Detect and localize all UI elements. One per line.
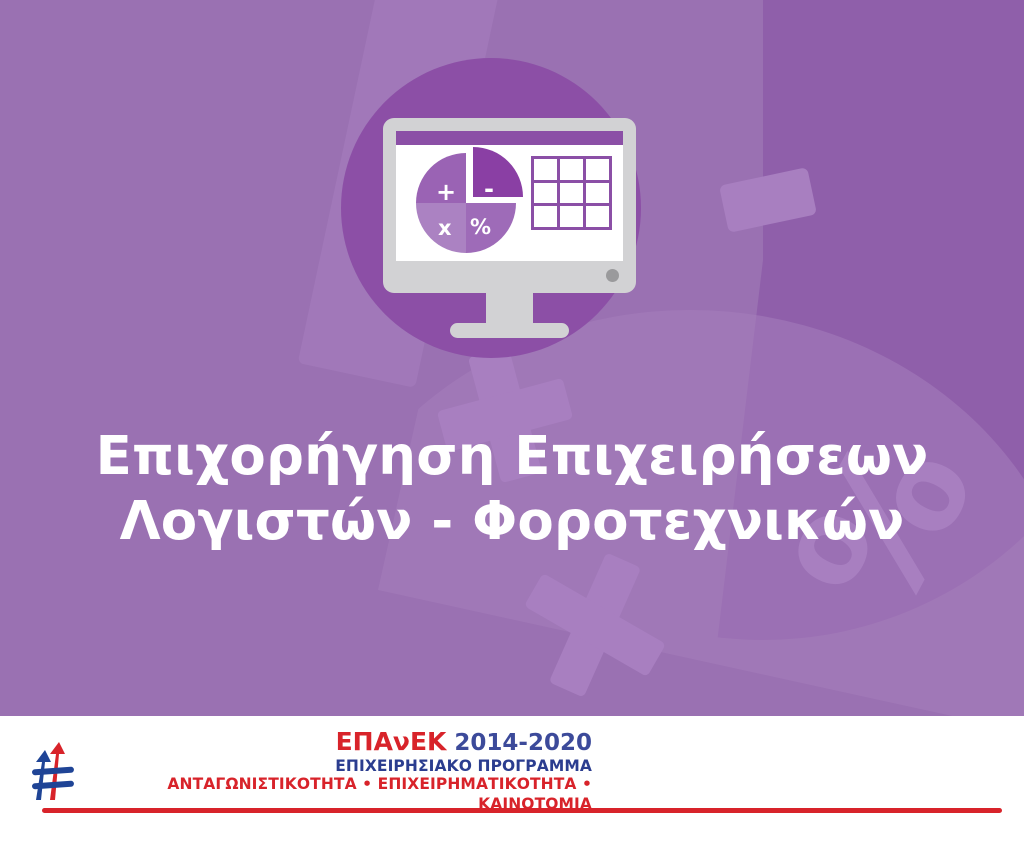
pie-label-percent: % bbox=[470, 217, 491, 238]
screen-titlebar bbox=[396, 131, 623, 145]
grid-cell bbox=[586, 183, 609, 204]
grid-cell bbox=[534, 159, 557, 180]
grid-cell bbox=[560, 183, 583, 204]
pie-chart-icon: + - x % bbox=[416, 153, 516, 253]
pie-label-plus: + bbox=[436, 180, 456, 204]
monitor-screen: + - x % bbox=[396, 131, 623, 261]
monitor-power-dot bbox=[606, 269, 619, 282]
grid-cell bbox=[534, 183, 557, 204]
grid-cell bbox=[586, 206, 609, 227]
footer-banner: ΕΠΑνΕΚ 2014-2020 ΕΠΙΧΕΙΡΗΣΙΑΚΟ ΠΡΟΓΡΑΜΜΑ… bbox=[0, 716, 1024, 857]
table-grid-icon bbox=[531, 156, 612, 230]
epanek-arrows-icon bbox=[30, 740, 92, 802]
monitor-stand-base bbox=[450, 323, 569, 338]
grid-cell bbox=[534, 206, 557, 227]
poster-root: % + - x % bbox=[0, 0, 1024, 857]
monitor-bezel: + - x % bbox=[383, 118, 636, 293]
epanek-brand: ΕΠΑνΕΚ bbox=[336, 727, 447, 756]
epanek-subtitle: ΕΠΙΧΕΙΡΗΣΙΑΚΟ ΠΡΟΓΡΑΜΜΑ bbox=[92, 757, 592, 776]
grid-cell bbox=[560, 159, 583, 180]
hero-background: % + - x % bbox=[0, 0, 1024, 716]
monitor-stand-neck bbox=[486, 293, 533, 327]
epanek-logo: ΕΠΑνΕΚ 2014-2020 ΕΠΙΧΕΙΡΗΣΙΑΚΟ ΠΡΟΓΡΑΜΜΑ… bbox=[30, 728, 590, 808]
epanek-text-block: ΕΠΑνΕΚ 2014-2020 ΕΠΙΧΕΙΡΗΣΙΑΚΟ ΠΡΟΓΡΑΜΜΑ… bbox=[92, 728, 592, 814]
page-title-line-2: Λογιστών - Φοροτεχνικών bbox=[0, 490, 1024, 555]
monitor-illustration: + - x % bbox=[383, 118, 636, 338]
grid-cell bbox=[560, 206, 583, 227]
pie-label-minus: - bbox=[484, 177, 494, 201]
page-title-line-1: Επιχορήγηση Επιχειρήσεων bbox=[0, 425, 1024, 490]
page-title: Επιχορήγηση Επιχειρήσεων Λογιστών - Φορο… bbox=[0, 425, 1024, 554]
grid-cell bbox=[586, 159, 609, 180]
footer-red-rule bbox=[42, 808, 1002, 813]
epanek-brand-line: ΕΠΑνΕΚ 2014-2020 bbox=[92, 728, 592, 757]
pie-label-times: x bbox=[438, 218, 452, 239]
epanek-years: 2014-2020 bbox=[454, 730, 592, 756]
